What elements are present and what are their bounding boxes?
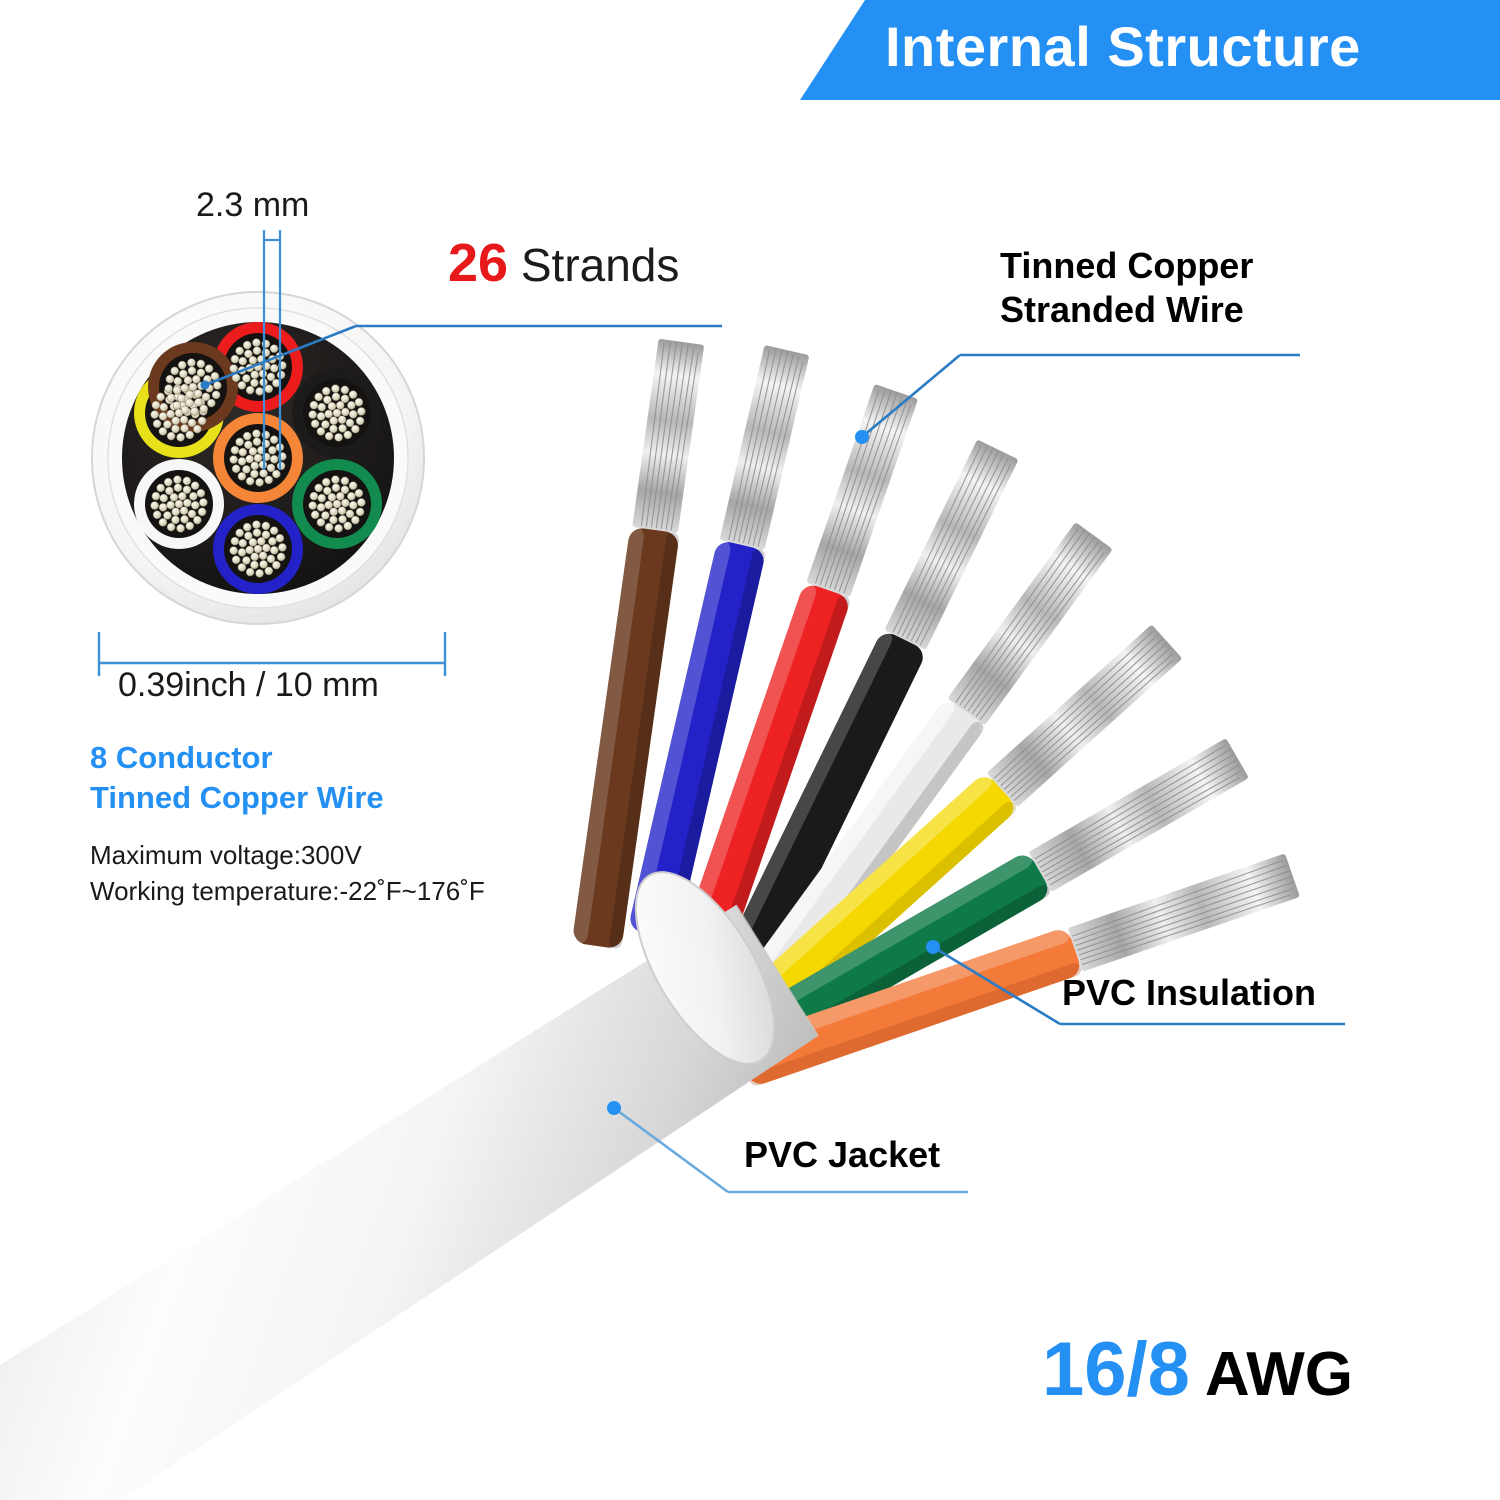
page-title: Internal Structure xyxy=(885,14,1485,79)
cable-illustration xyxy=(0,0,1500,1500)
pvc-jacket-body xyxy=(0,851,818,1500)
infographic-canvas: 2.3 mm 0.39inch / 10 mm 8 Conductor Tinn… xyxy=(0,0,1500,1500)
